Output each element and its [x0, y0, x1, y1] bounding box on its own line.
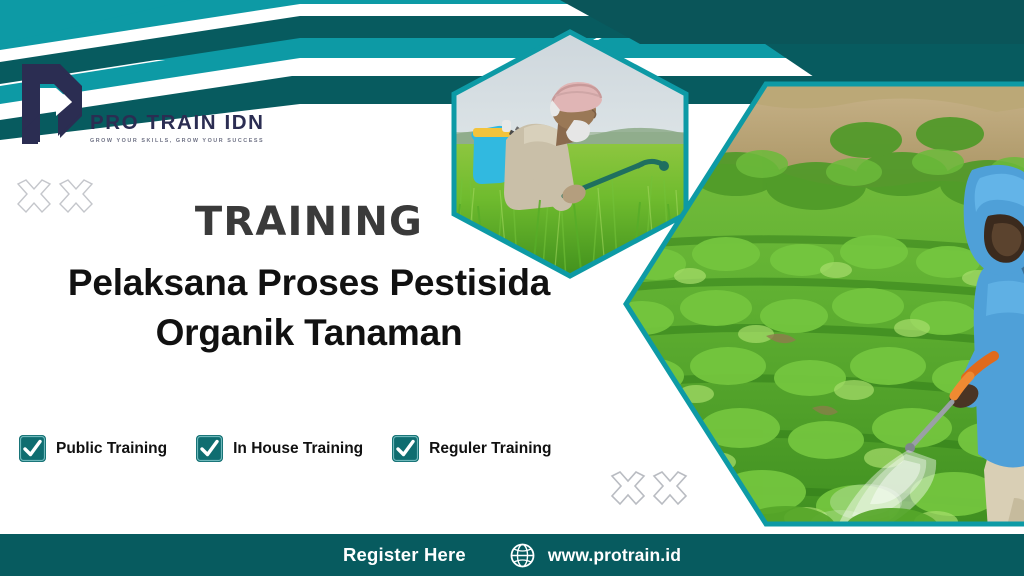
badge-in-house-training[interactable]: In House Training	[195, 434, 363, 463]
page-title: TRAINING Pelaksana Proses Pestisida Orga…	[0, 202, 618, 357]
title-eyebrow: TRAINING	[0, 202, 618, 242]
title-line-1: Pelaksana Proses Pestisida	[0, 258, 618, 308]
badge-public-training[interactable]: Public Training	[18, 434, 167, 463]
badge-label: In House Training	[233, 440, 363, 458]
training-type-badges: Public Training In House Training Regule…	[18, 434, 551, 463]
brand-tagline: GROW YOUR SKILLS, GROW YOUR SUCCESS	[90, 138, 265, 144]
badge-label: Public Training	[56, 440, 167, 458]
protrain-arrow-logo-icon	[16, 58, 88, 150]
hexagon-photo-icon	[616, 78, 1024, 530]
badge-reguler-training[interactable]: Reguler Training	[391, 434, 551, 463]
check-box-icon	[195, 434, 224, 463]
brand-name: PRO TRAIN IDN	[90, 113, 265, 134]
training-poster: PRO TRAIN IDN GROW YOUR SKILLS, GROW YOU…	[0, 0, 1024, 576]
check-box-icon	[391, 434, 420, 463]
globe-icon	[510, 543, 535, 568]
footer-bar: Register Here www.protrain.id	[0, 534, 1024, 576]
brand-logo[interactable]: PRO TRAIN IDN GROW YOUR SKILLS, GROW YOU…	[16, 58, 265, 150]
badge-label: Reguler Training	[429, 440, 551, 458]
check-box-icon	[18, 434, 47, 463]
title-line-2: Organik Tanaman	[0, 308, 618, 358]
register-here-label[interactable]: Register Here	[343, 544, 466, 566]
website-link[interactable]: www.protrain.id	[510, 543, 681, 568]
website-url: www.protrain.id	[548, 545, 681, 566]
